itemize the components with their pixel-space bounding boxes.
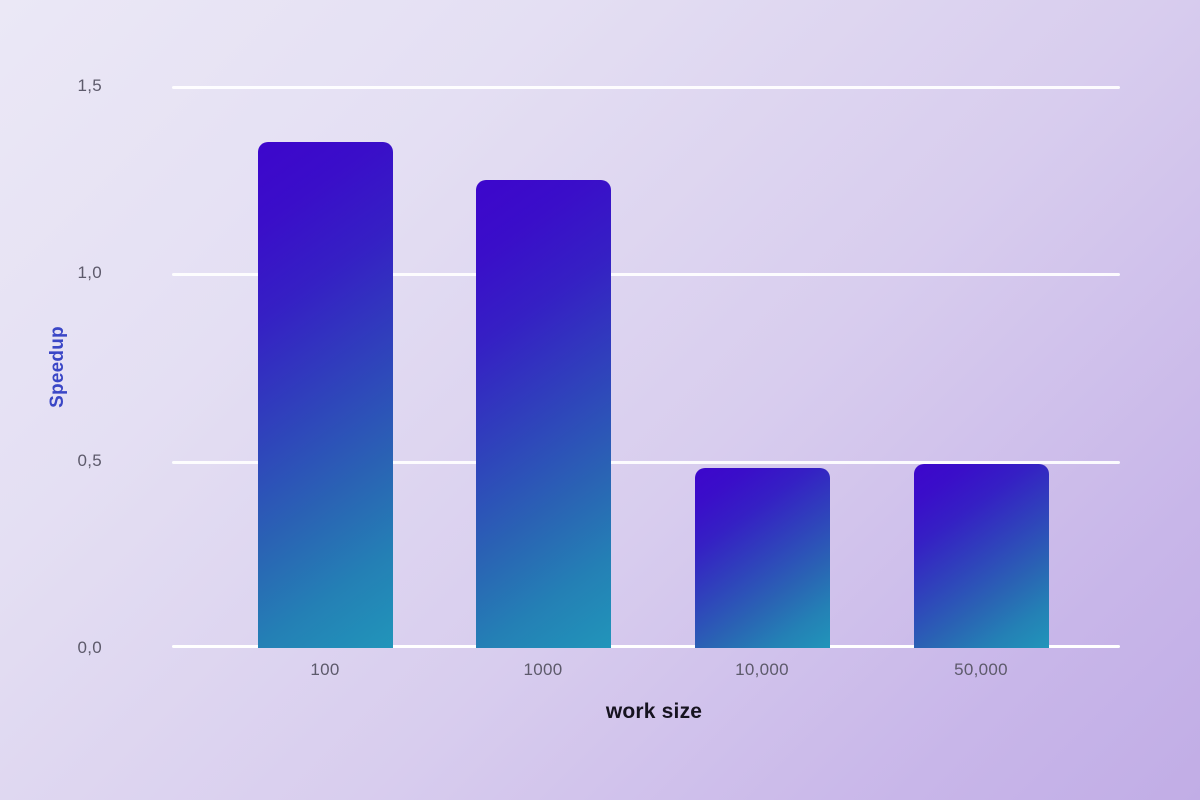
x-axis-title: work size [606, 700, 702, 724]
x-tick-label-1000: 1000 [523, 660, 562, 680]
y-tick-label-0.5: 0,5 [42, 451, 102, 471]
bar-chart-figure: Speedup 1,5 1,0 0,5 0,0 100 1000 10,000 … [0, 0, 1200, 800]
y-tick-label-1.5: 1,5 [42, 76, 102, 96]
plot-area [172, 86, 1120, 648]
bar-50000[interactable] [914, 464, 1049, 648]
bar-1000[interactable] [476, 180, 611, 648]
bar-100[interactable] [258, 142, 393, 648]
x-tick-label-100: 100 [310, 660, 339, 680]
bar-10000[interactable] [695, 468, 830, 648]
y-tick-label-1.0: 1,0 [42, 263, 102, 283]
x-tick-label-50000: 50,000 [954, 660, 1008, 680]
x-tick-label-10000: 10,000 [735, 660, 789, 680]
y-tick-label-0.0: 0,0 [42, 638, 102, 658]
y-axis-title: Speedup [47, 326, 69, 408]
bars-layer [172, 86, 1120, 648]
